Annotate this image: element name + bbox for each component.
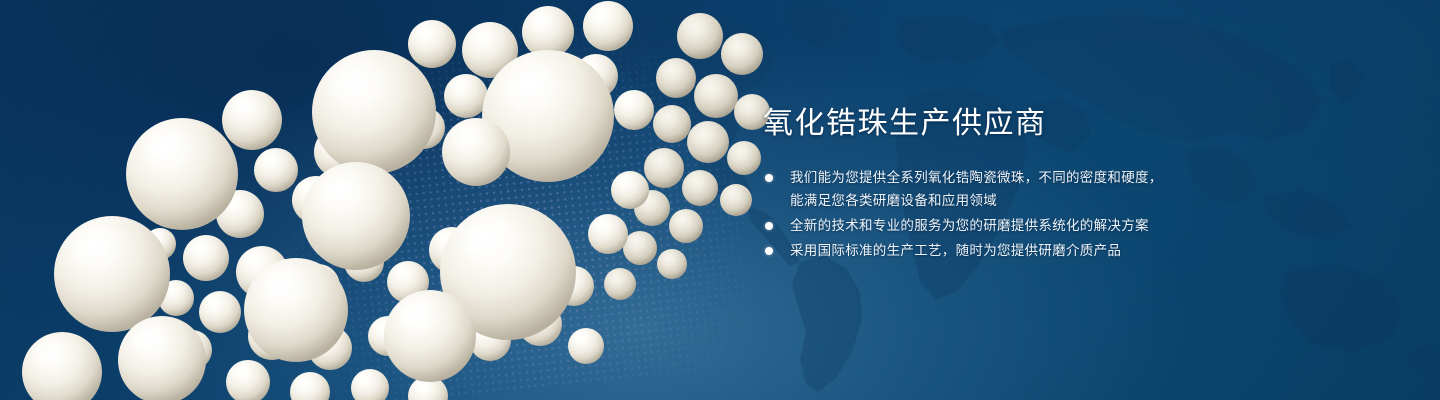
list-item: 我们能为您提供全系列氧化锆陶瓷微珠，不同的密度和硬度， 能满足您各类研磨设备和应… (763, 166, 1233, 212)
bullet-dot-icon (765, 222, 773, 230)
list-item: 全新的技术和专业的服务为您的研磨提供系统化的解决方案 (763, 214, 1233, 237)
list-item: 采用国际标准的生产工艺，随时为您提供研磨介质产品 (763, 239, 1233, 262)
banner-copy: 氧化锆珠生产供应商 我们能为您提供全系列氧化锆陶瓷微珠，不同的密度和硬度， 能满… (763, 104, 1233, 264)
bullet-dot-icon (765, 247, 773, 255)
list-item-line2: 能满足您各类研磨设备和应用领域 (790, 189, 1233, 212)
page-title: 氧化锆珠生产供应商 (763, 104, 1233, 144)
list-item-line1: 我们能为您提供全系列氧化锆陶瓷微珠，不同的密度和硬度， (790, 170, 1163, 185)
list-item-line1: 全新的技术和专业的服务为您的研磨提供系统化的解决方案 (790, 218, 1149, 233)
hero-banner: 氧化锆珠生产供应商 我们能为您提供全系列氧化锆陶瓷微珠，不同的密度和硬度， 能满… (0, 0, 1440, 400)
list-item-line1: 采用国际标准的生产工艺，随时为您提供研磨介质产品 (790, 243, 1121, 258)
feature-list: 我们能为您提供全系列氧化锆陶瓷微珠，不同的密度和硬度， 能满足您各类研磨设备和应… (763, 166, 1233, 262)
bullet-dot-icon (765, 174, 773, 182)
zirconia-beads-image (0, 0, 780, 400)
